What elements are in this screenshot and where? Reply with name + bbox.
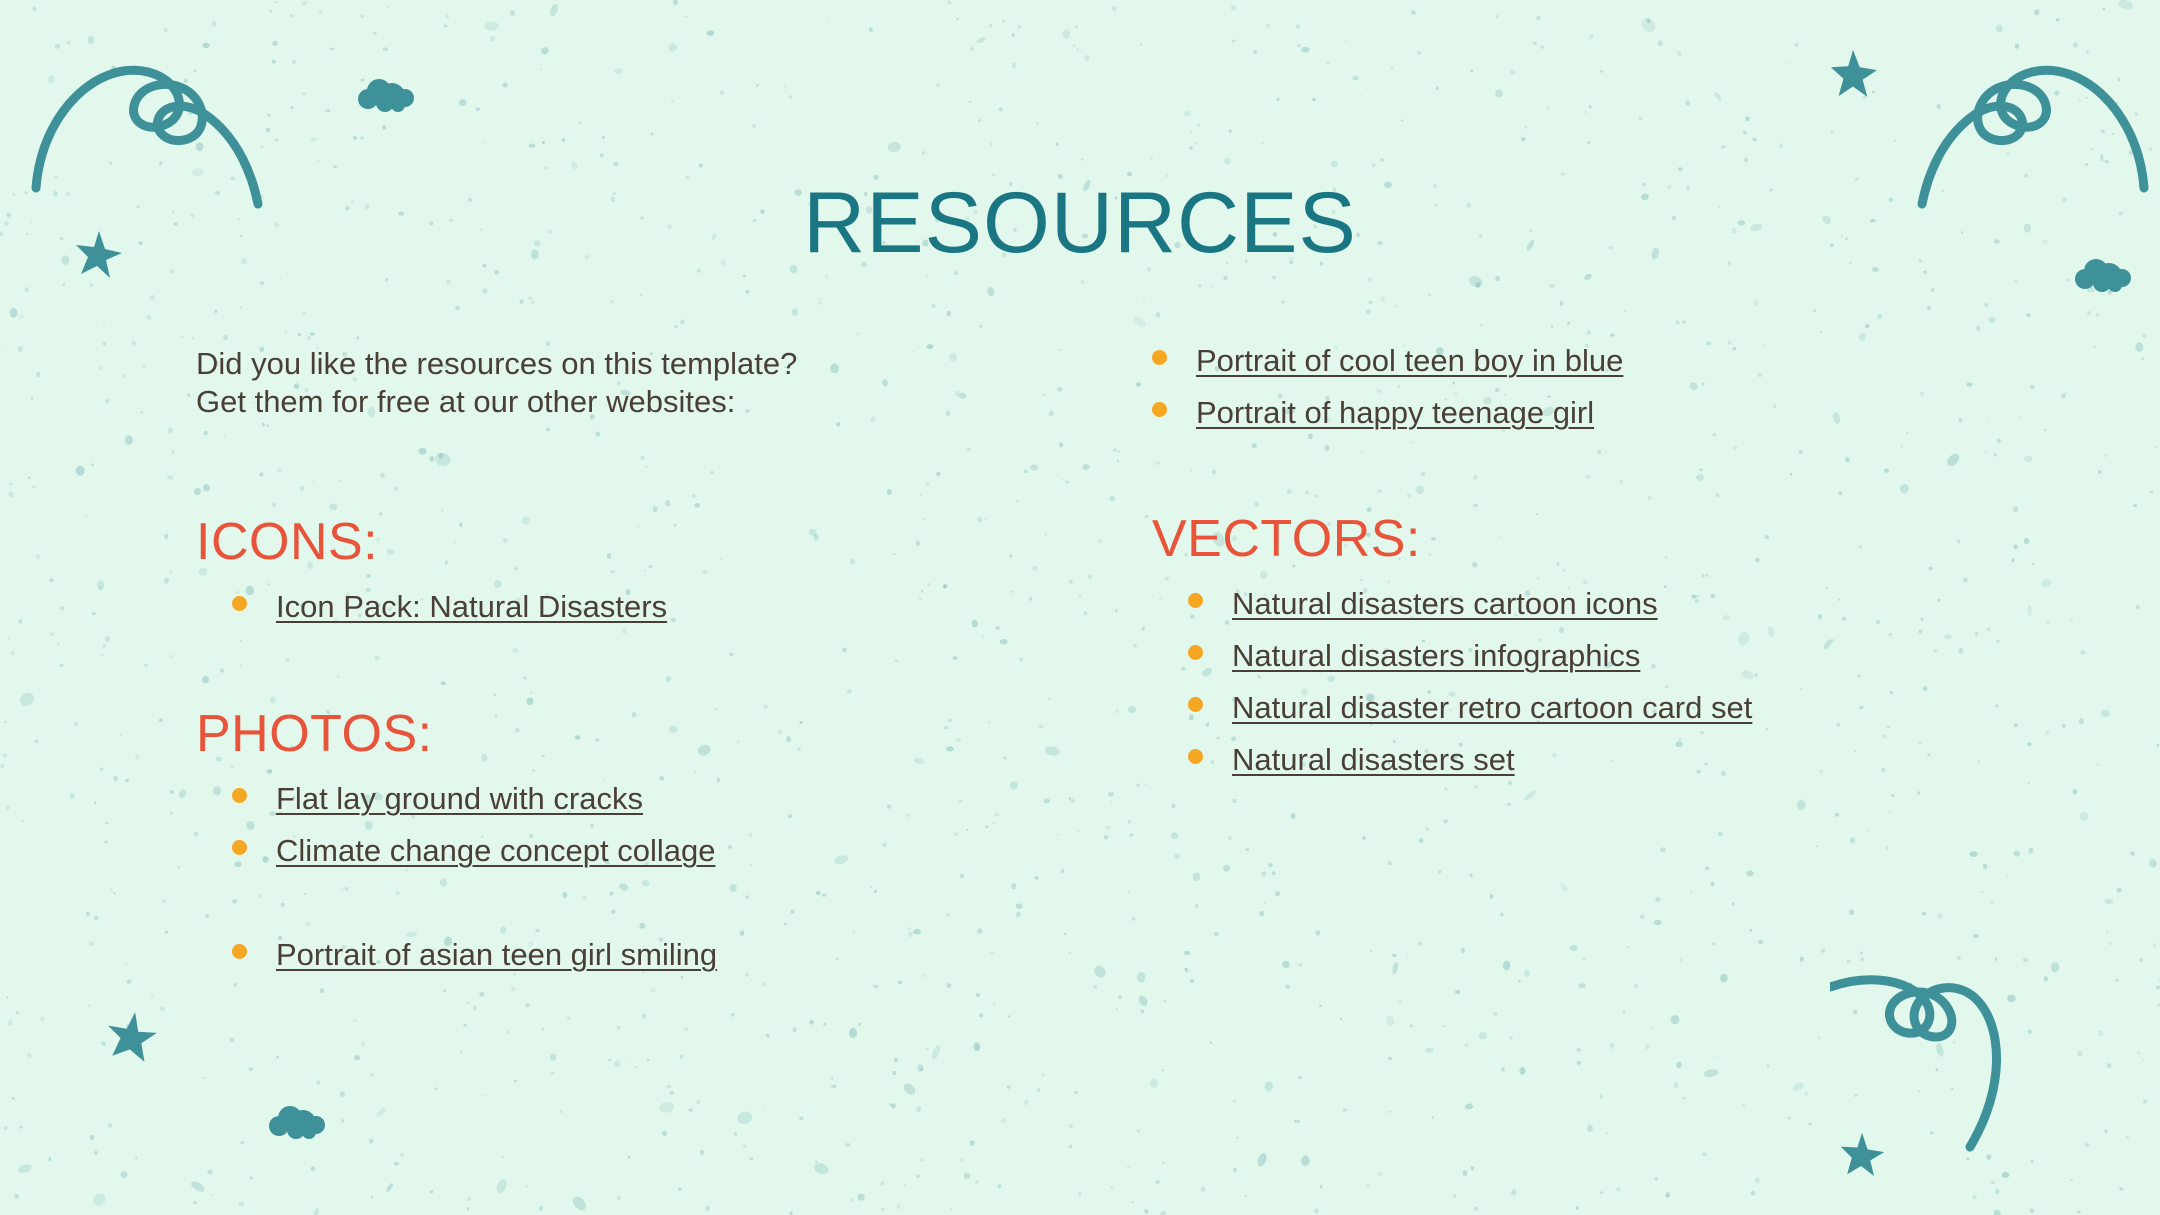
vectors-link-list: Natural disasters cartoon icons Natural … [1188, 588, 1752, 780]
list-item[interactable]: Portrait of asian teen girl smiling [232, 939, 717, 975]
list-item[interactable]: Portrait of happy teenage girl [1152, 397, 1623, 433]
resource-link[interactable]: Natural disasters infographics [1232, 640, 1640, 671]
resource-link[interactable]: Natural disasters cartoon icons [1232, 588, 1658, 619]
list-item[interactable]: Natural disasters infographics [1188, 640, 1752, 676]
resource-link[interactable]: Portrait of happy teenage girl [1196, 397, 1594, 428]
list-item-empty [232, 887, 717, 923]
list-item[interactable]: Natural disasters set [1188, 744, 1752, 780]
bullet-icon [1152, 350, 1167, 365]
list-item[interactable]: Climate change concept collage [232, 835, 717, 871]
bullet-icon [232, 596, 247, 611]
intro-text: Did you like the resources on this templ… [196, 345, 1036, 421]
list-item[interactable]: Portrait of cool teen boy in blue [1152, 345, 1623, 381]
icons-section-heading: ICONS: [196, 516, 378, 568]
page-title: RESOURCES [0, 180, 2160, 266]
list-item[interactable]: Flat lay ground with cracks [232, 783, 717, 819]
portraits-link-list: Portrait of cool teen boy in blue Portra… [1152, 345, 1623, 433]
vectors-section-heading: VECTORS: [1152, 513, 1421, 565]
left-column: Did you like the resources on this templ… [196, 345, 1036, 421]
bullet-icon [1188, 697, 1203, 712]
intro-line-2: Get them for free at our other websites: [196, 383, 1036, 421]
bullet-icon [1188, 645, 1203, 660]
resource-link[interactable]: Portrait of asian teen girl smiling [276, 939, 717, 970]
bullet-icon [1188, 593, 1203, 608]
bullet-icon [1188, 749, 1203, 764]
resource-link[interactable]: Icon Pack: Natural Disasters [276, 591, 667, 622]
bullet-icon [1152, 402, 1167, 417]
resource-link[interactable]: Climate change concept collage [276, 835, 715, 866]
icons-link-list: Icon Pack: Natural Disasters [232, 591, 667, 627]
slide-canvas: RESOURCES Did you like the resources on … [0, 0, 2160, 1215]
bullet-icon [232, 788, 247, 803]
resource-link[interactable]: Natural disasters set [1232, 744, 1515, 775]
intro-line-1: Did you like the resources on this templ… [196, 345, 1036, 383]
bullet-icon [232, 944, 247, 959]
list-item[interactable]: Natural disaster retro cartoon card set [1188, 692, 1752, 728]
resource-link[interactable]: Portrait of cool teen boy in blue [1196, 345, 1623, 376]
bullet-icon [232, 840, 247, 855]
resource-link[interactable]: Natural disaster retro cartoon card set [1232, 692, 1752, 723]
list-item[interactable]: Natural disasters cartoon icons [1188, 588, 1752, 624]
photos-section-heading: PHOTOS: [196, 708, 433, 760]
list-item[interactable]: Icon Pack: Natural Disasters [232, 591, 667, 627]
resource-link[interactable]: Flat lay ground with cracks [276, 783, 643, 814]
photos-link-list: Flat lay ground with cracks Climate chan… [232, 783, 717, 975]
